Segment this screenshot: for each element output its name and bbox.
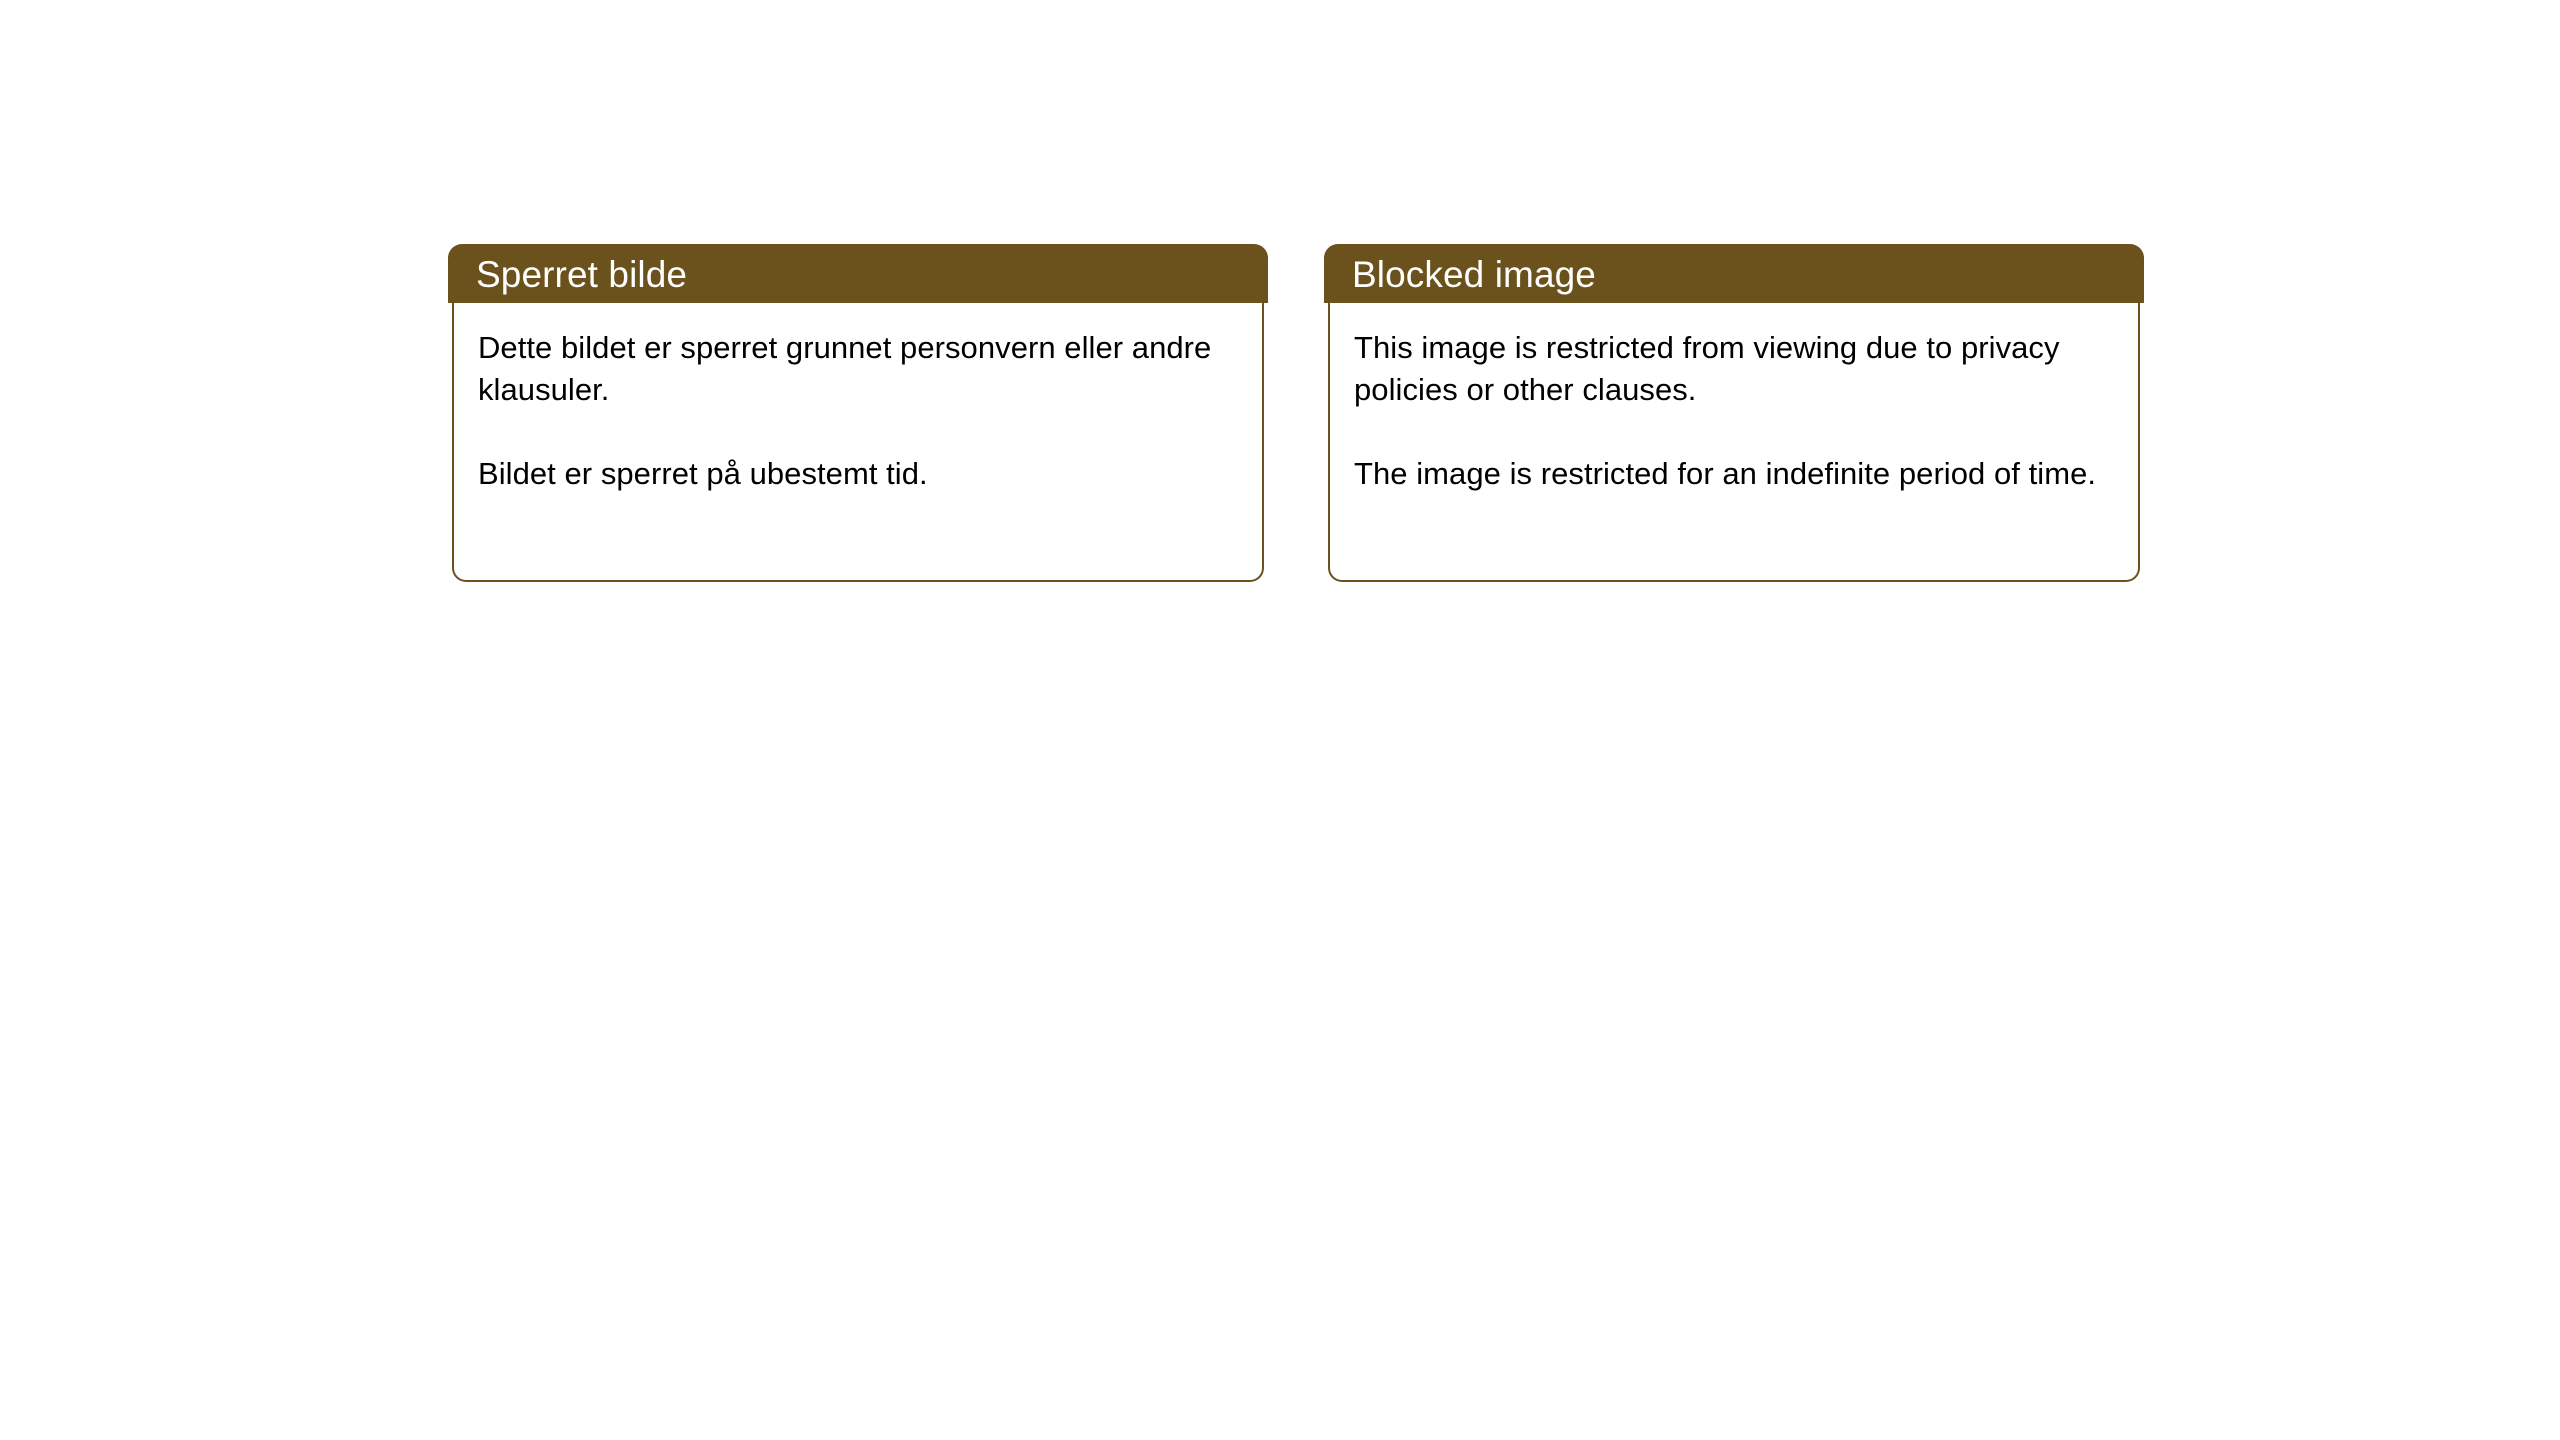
card-title-en: Blocked image: [1352, 255, 1596, 295]
page-root: Sperret bilde Dette bildet er sperret gr…: [0, 0, 2560, 1440]
card-header-en: Blocked image: [1324, 244, 2144, 303]
card-body-no: Dette bildet er sperret grunnet personve…: [452, 299, 1264, 582]
card-paragraph-en-2: The image is restricted for an indefinit…: [1354, 453, 2112, 495]
blocked-image-card-no: Sperret bilde Dette bildet er sperret gr…: [452, 244, 1264, 582]
blocked-image-card-en: Blocked image This image is restricted f…: [1328, 244, 2140, 582]
card-paragraph-no-2: Bildet er sperret på ubestemt tid.: [478, 453, 1236, 495]
card-paragraph-no-1: Dette bildet er sperret grunnet personve…: [478, 327, 1236, 411]
card-paragraph-en-1: This image is restricted from viewing du…: [1354, 327, 2112, 411]
card-header-no: Sperret bilde: [448, 244, 1268, 303]
card-title-no: Sperret bilde: [476, 255, 687, 295]
card-body-en: This image is restricted from viewing du…: [1328, 299, 2140, 582]
